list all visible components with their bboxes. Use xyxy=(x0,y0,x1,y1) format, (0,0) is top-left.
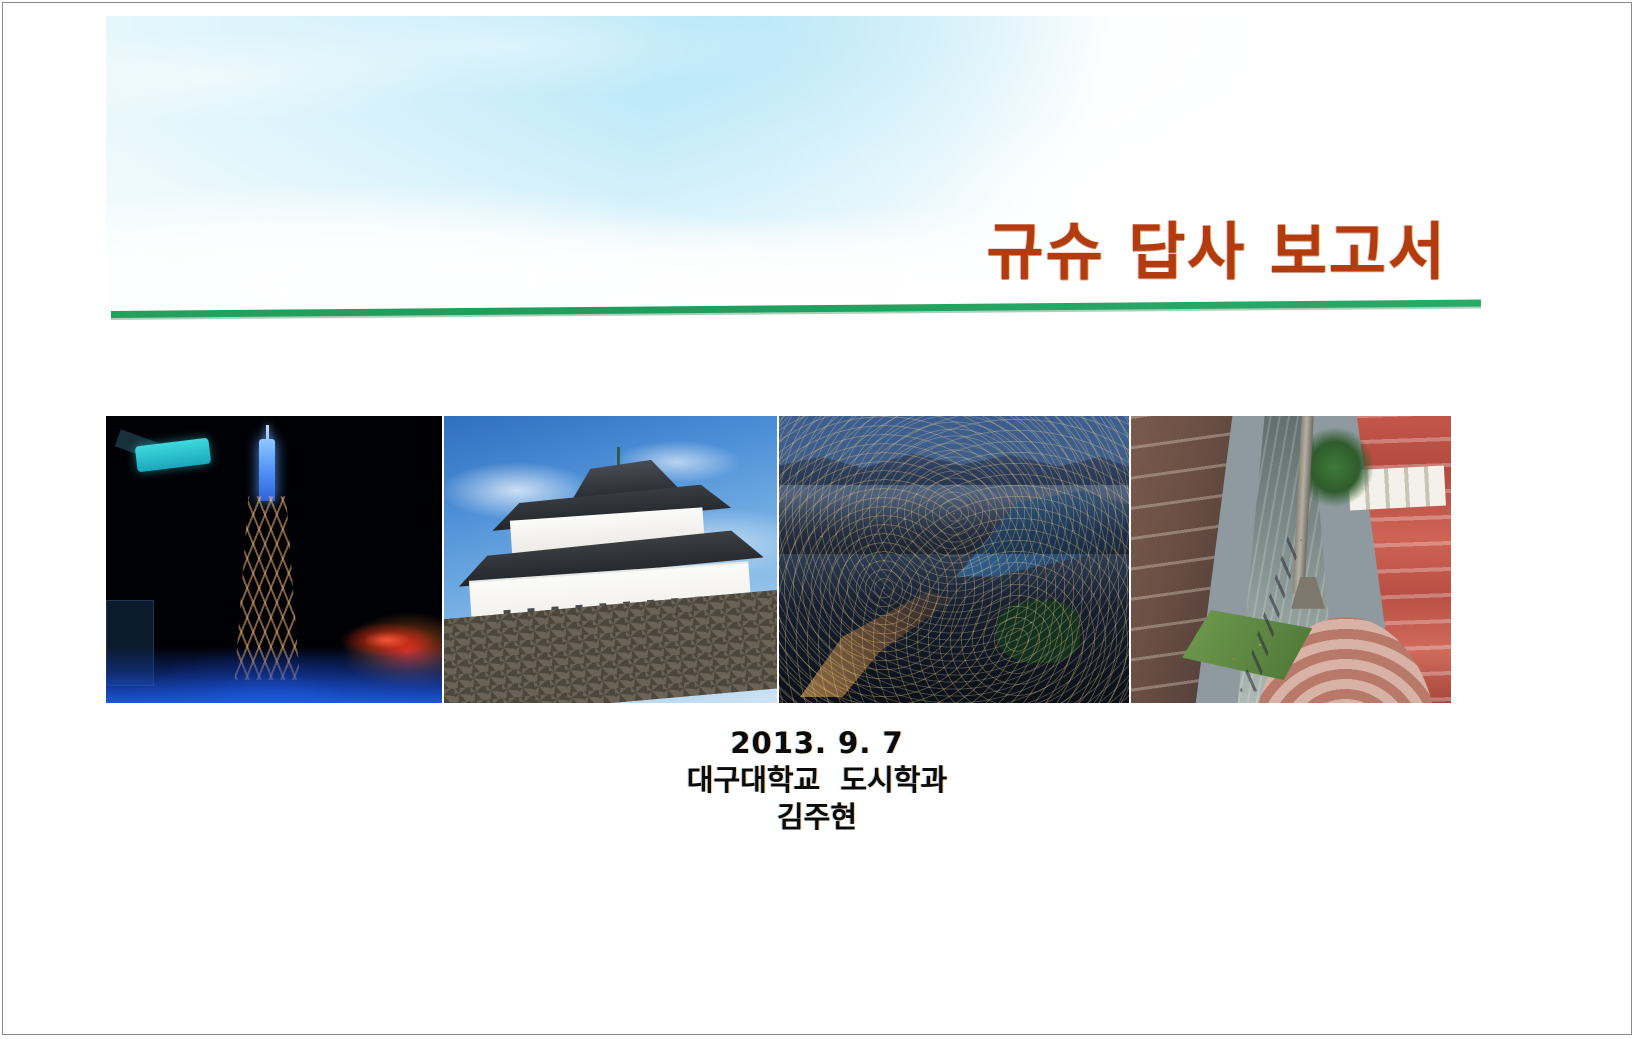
photo-canal-city-plaza xyxy=(1131,416,1451,703)
photo-strip xyxy=(106,416,1451,703)
title-divider xyxy=(111,299,1481,325)
slide-page: 규슈 답사 보고서 xyxy=(2,2,1632,1035)
page-title: 규슈 답사 보고서 xyxy=(987,221,1447,283)
affiliation: 대구대학교 도시학과 xyxy=(3,762,1631,799)
photo-fukuoka-tower-night xyxy=(106,416,442,703)
city-lights xyxy=(779,416,1129,703)
author-name: 김주현 xyxy=(3,799,1631,836)
photo-aerial-city-night xyxy=(779,416,1129,703)
roof-finial xyxy=(617,447,620,465)
footer-block: 2013. 9. 7 대구대학교 도시학과 김주현 xyxy=(3,725,1631,836)
presentation-date: 2013. 9. 7 xyxy=(3,725,1631,762)
photo-japanese-castle xyxy=(444,416,777,703)
red-light-flare xyxy=(339,623,435,657)
tower-top-lit xyxy=(259,439,275,501)
